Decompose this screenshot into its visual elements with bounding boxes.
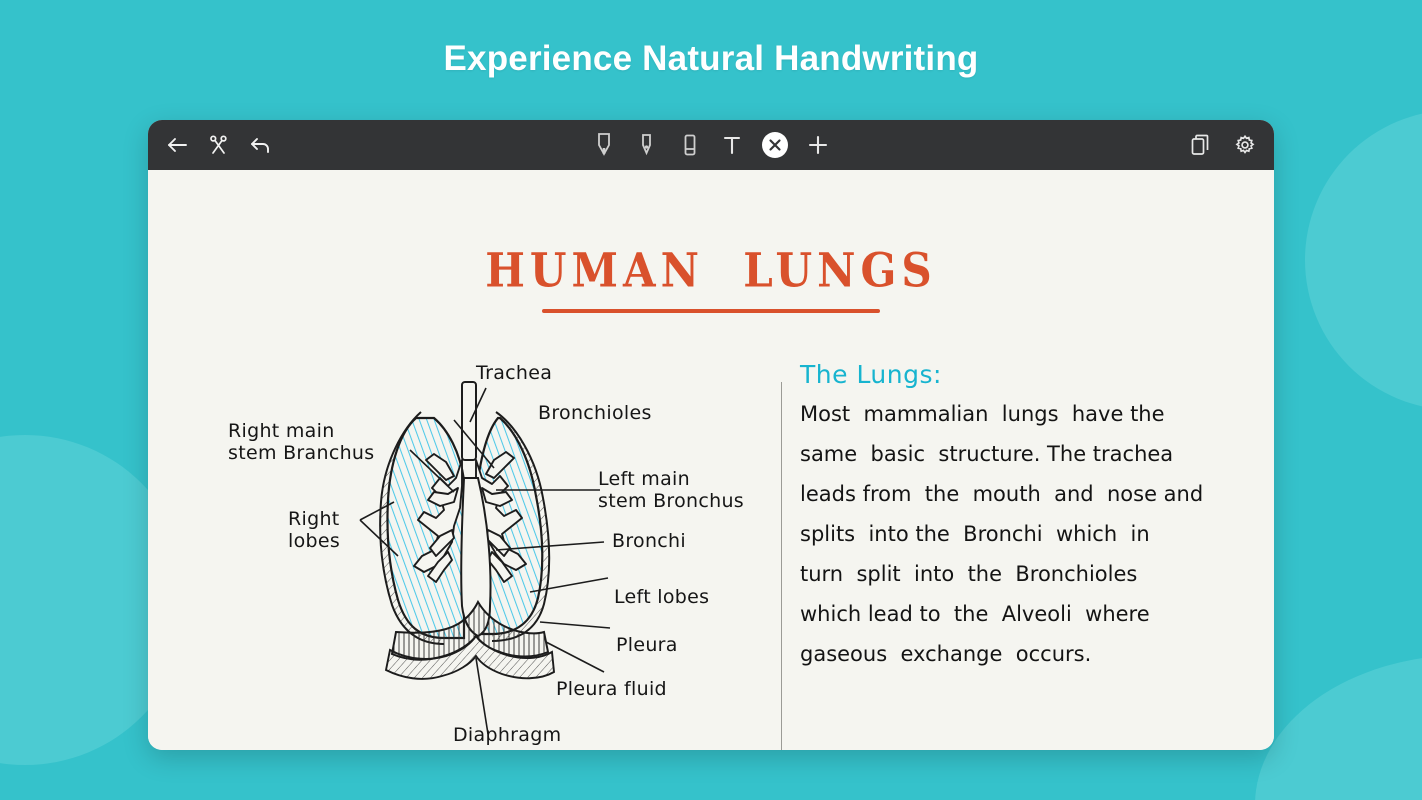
gear-icon[interactable] <box>1232 132 1258 158</box>
note-body-line: leads from the mouth and nose and <box>800 483 1200 506</box>
diagram-label-bronchioles: Bronchioles <box>538 402 652 424</box>
note-body-line: gaseous exchange occurs. <box>800 643 1200 666</box>
deco-circle-bottom-right <box>1255 655 1422 800</box>
note-title-block: HUMAN LUNGS <box>148 246 1274 313</box>
deco-circle-right-top <box>1305 110 1422 410</box>
pencil-icon[interactable] <box>634 132 660 158</box>
diagram-label-right-main-stem-branchus: Right main stem Branchus <box>228 420 374 464</box>
undo-icon[interactable] <box>248 132 274 158</box>
column-divider <box>781 382 782 750</box>
note-body-line: turn split into the Bronchioles <box>800 563 1200 586</box>
diagram-label-diaphragm: Diaphragm <box>453 724 561 746</box>
diagram-label-right-lobes: Right lobes <box>288 508 340 552</box>
pen-icon[interactable] <box>591 132 617 158</box>
tablet-device: HUMAN LUNGS <box>148 120 1274 750</box>
diagram-column: Trachea Bronchioles Right main stem Bran… <box>248 360 768 750</box>
copy-pages-icon[interactable] <box>1188 132 1214 158</box>
diagram-label-left-main-stem-bronchus: Left main stem Bronchus <box>598 468 744 512</box>
note-body-line: Most mammalian lungs have the <box>800 403 1200 426</box>
note-body-line: splits into the Bronchi which in <box>800 523 1200 546</box>
note-body-line: same basic structure. The trachea <box>800 443 1200 466</box>
back-icon[interactable] <box>164 132 190 158</box>
human-lungs-diagram <box>248 360 768 750</box>
text-icon[interactable] <box>719 132 745 158</box>
note-body: Most mammalian lungs have the same basic… <box>800 403 1200 666</box>
note-title: HUMAN LUNGS <box>485 243 936 298</box>
diagram-label-trachea: Trachea <box>476 362 552 384</box>
diagram-label-bronchi: Bronchi <box>612 530 686 552</box>
app-toolbar <box>148 120 1274 170</box>
diagram-label-pleura-fluid: Pleura fluid <box>556 678 667 700</box>
close-circle-icon[interactable] <box>762 132 788 158</box>
scissors-icon[interactable] <box>206 132 232 158</box>
page-headline: Experience Natural Handwriting <box>0 0 1422 118</box>
note-subheading: The Lungs: <box>800 360 1200 389</box>
diagram-label-left-lobes: Left lobes <box>614 586 709 608</box>
plus-icon[interactable] <box>805 132 831 158</box>
note-body-line: which lead to the Alveoli where <box>800 603 1200 626</box>
note-title-underline <box>542 309 880 313</box>
eraser-icon[interactable] <box>677 132 703 158</box>
text-column: The Lungs: Most mammalian lungs have the… <box>800 360 1200 683</box>
diagram-label-pleura: Pleura <box>616 634 678 656</box>
note-paper[interactable]: HUMAN LUNGS <box>148 170 1274 750</box>
note-content: Trachea Bronchioles Right main stem Bran… <box>148 360 1274 750</box>
